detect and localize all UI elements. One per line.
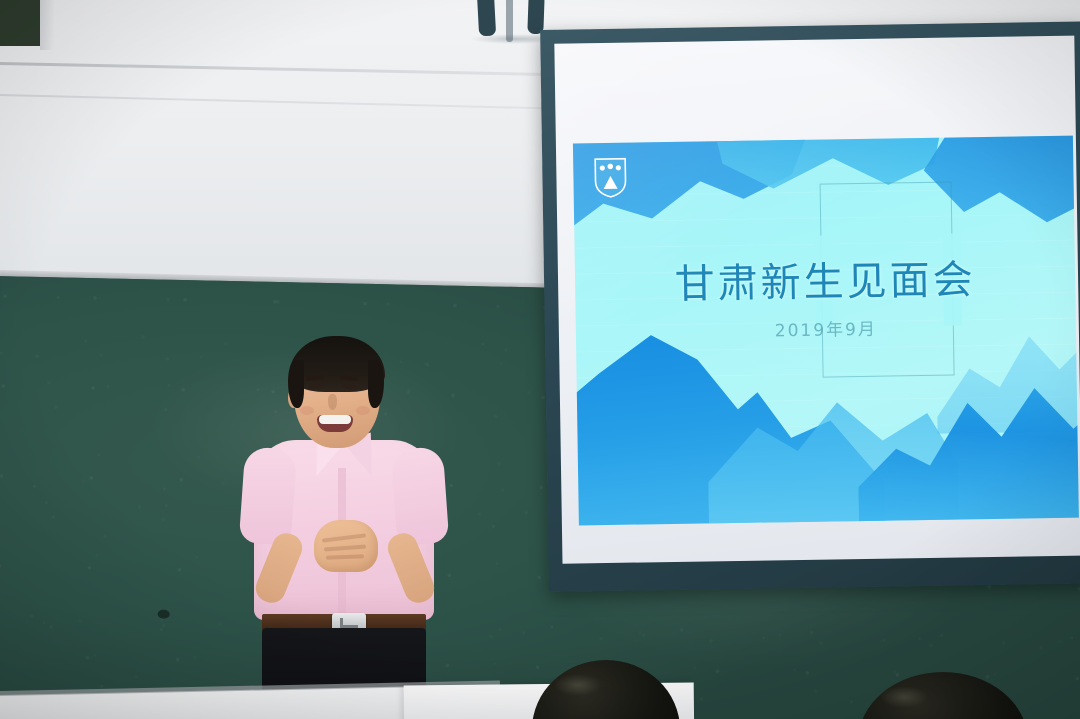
hair-highlight [554,674,602,696]
presenter-sleeve-left [239,446,298,545]
presenter-nose [328,394,337,410]
university-crest-icon [593,157,628,200]
photo-scene: 甘肃新生见面会 2019年9月 [0,0,1080,719]
finger-line [322,533,366,542]
presenter-sleeve-right [391,446,450,545]
presenter-mouth [317,415,353,432]
presenter [238,336,450,719]
finger-line [326,554,364,559]
ceiling-hanger-icon [477,0,496,36]
hair-highlight [880,686,928,708]
screen-surface: 甘肃新生见面会 2019年9月 [554,36,1080,564]
presenter-hair-side-left [288,360,304,408]
wall-seam-secondary [0,94,560,110]
presentation-slide: 甘肃新生见面会 2019年9月 [573,136,1079,526]
presenter-hands [314,520,378,572]
slide-title: 甘肃新生见面会 [575,246,1076,312]
finger-line [324,545,366,552]
buckle-detail [340,618,358,628]
presenter-hair-side-right [368,360,384,408]
wall-seam [0,62,560,76]
chalk-mark [158,610,170,619]
wall-pillar [40,0,54,50]
presenter-cheek-left [300,406,314,415]
presenter-teeth [319,415,351,424]
presenter-cheek-right [356,406,370,415]
projection-screen[interactable]: 甘肃新生见面会 2019年9月 [540,13,1080,592]
